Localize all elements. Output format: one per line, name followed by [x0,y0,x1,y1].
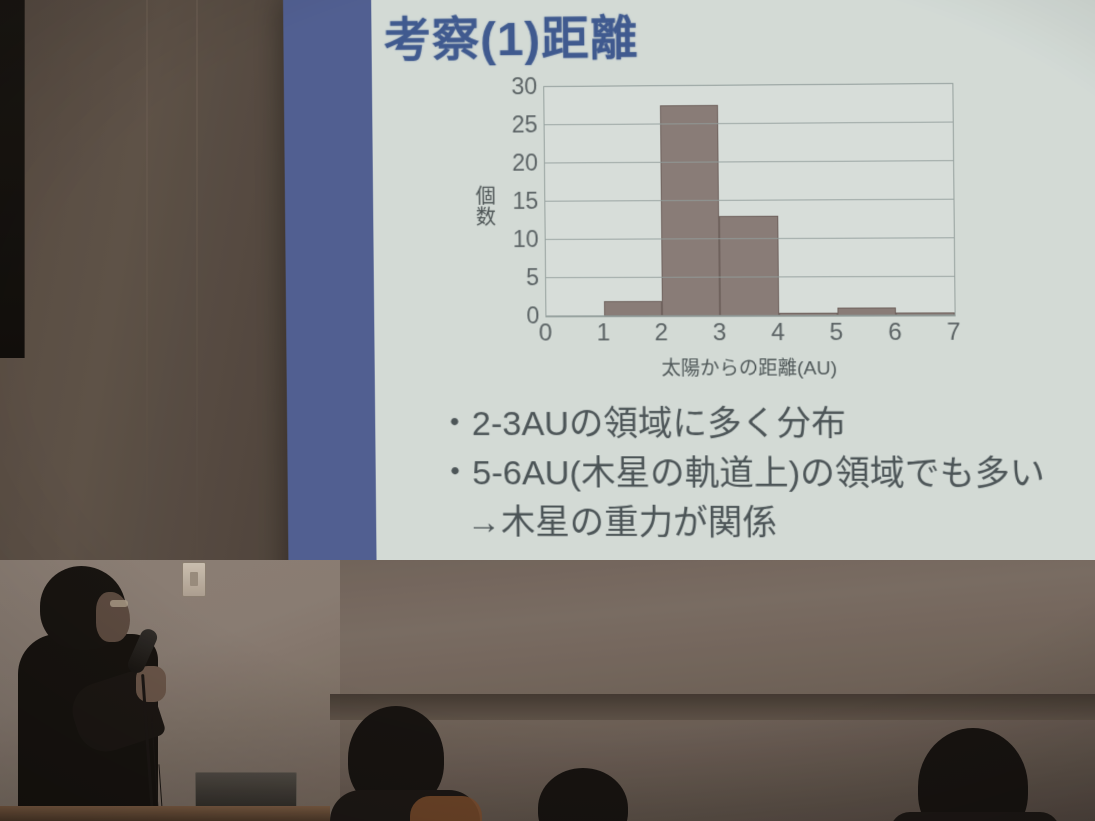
y-tick-label: 15 [512,189,538,212]
bullet-item-1: ・2-3AUの領域に多く分布 [437,400,1095,450]
bar-2-3 [660,105,720,316]
presenter-desk [0,806,330,821]
x-tick-label: 4 [771,319,785,347]
presenter-glasses [110,600,128,607]
x-tick-label: 6 [888,319,902,347]
bullet-item-3: →木星の重力が関係 [438,498,1095,549]
audience-member-3-body [890,812,1060,821]
x-tick-label: 7 [947,318,961,346]
y-axis-ticks: 051015202530 [497,86,544,315]
histogram-chart: 個数 051015202530 01234567 太陽からの距離(AU) [473,83,975,388]
bar-3-4 [719,216,778,316]
slide-title: 考察(1)距離 [383,0,639,70]
y-axis-title-char: 数 [474,208,498,229]
x-axis-title: 太陽からの距離(AU) [546,353,954,381]
y-tick-label: 5 [526,266,539,289]
y-tick-label: 0 [526,304,539,327]
audience-bench [330,694,1095,720]
presenter-laptop [195,772,297,810]
x-tick-label: 3 [713,319,727,347]
x-tick-label: 5 [829,319,843,347]
slide-bullet-list: ・2-3AUの領域に多く分布 ・5-6AU(木星の軌道上)の領域でも多い →木星… [437,400,1095,550]
x-axis-ticks: 01234567 [545,318,953,351]
audience-member-1-scarf [410,796,482,821]
y-axis-title: 個数 [474,187,499,229]
bar-1-2 [604,301,662,316]
y-tick-label: 20 [512,151,538,174]
y-axis-title-char: 個 [474,187,498,208]
presenter-with-microphone [18,566,178,821]
plot-area [543,83,955,317]
y-tick-label: 25 [512,113,538,136]
x-tick-label: 2 [655,319,669,347]
y-tick-label: 30 [511,75,537,98]
gridline [546,314,954,316]
y-tick-label: 10 [513,227,539,250]
wall-outlet-panel [182,562,206,597]
x-tick-label: 0 [539,319,553,347]
lecture-hall-photo: 考察(1)距離 個数 051015202530 01234567 太陽からの距離… [0,0,1095,821]
x-tick-label: 1 [597,319,611,347]
bullet-item-2: ・5-6AU(木星の軌道上)の領域でも多い [438,449,1095,499]
wall-monitor [0,0,25,358]
